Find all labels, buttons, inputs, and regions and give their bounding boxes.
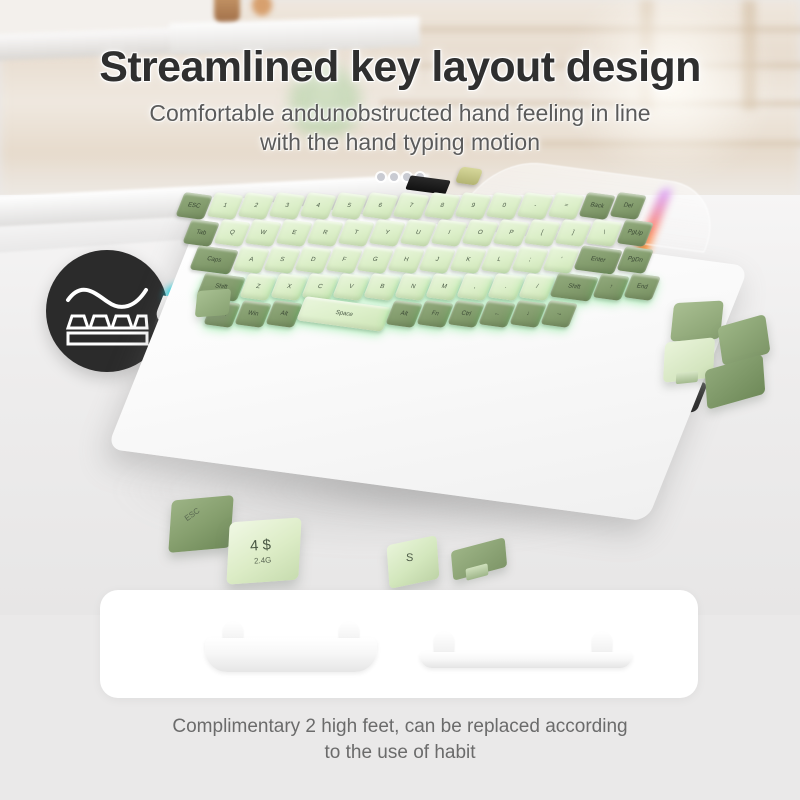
hero-subtitle: Comfortable andunobstructed hand feeling… <box>0 99 800 157</box>
keycap: Space <box>296 296 392 332</box>
keycap: Shift <box>549 272 599 301</box>
foot-body <box>205 638 377 672</box>
keycap: Caps <box>189 245 239 274</box>
feet-caption-line2: to the use of habit <box>0 740 800 766</box>
loose-keycap <box>706 362 772 420</box>
feet-caption: Complimentary 2 high feet, can be replac… <box>0 714 800 765</box>
page-title: Streamlined key layout design <box>0 46 800 89</box>
hero-text-block: Streamlined key layout design Comfortabl… <box>0 46 800 157</box>
keycap: PgDn <box>616 246 654 274</box>
keycap-legend: S <box>406 552 414 564</box>
hero-subtitle-line2: with the hand typing motion <box>0 128 800 157</box>
loose-keycap-4: 4 $ 2.4G <box>228 520 308 598</box>
keycap-legend: 4 $ <box>249 536 271 554</box>
mechanical-keyboard: ESC1234567890-=BackDelTabQWERTYUIOP[]\Pg… <box>140 170 720 500</box>
loose-keycap <box>452 544 512 594</box>
loose-keycap-esc: ESC <box>170 498 236 564</box>
keycap: Enter <box>573 245 623 274</box>
keycap-field: ESC1234567890-=BackDelTabQWERTYUIOP[]\Pg… <box>140 170 720 500</box>
foot-body <box>420 652 632 668</box>
product-banner: Streamlined key layout design Comfortabl… <box>0 0 800 800</box>
loose-keycap <box>196 290 236 330</box>
hero-subtitle-line1: Comfortable andunobstructed hand feeling… <box>149 100 650 126</box>
feet-caption-line1: Complimentary 2 high feet, can be replac… <box>172 716 627 737</box>
high-foot <box>205 622 377 670</box>
keycap-sublegend: 2.4G <box>254 555 272 565</box>
low-foot <box>420 632 632 670</box>
